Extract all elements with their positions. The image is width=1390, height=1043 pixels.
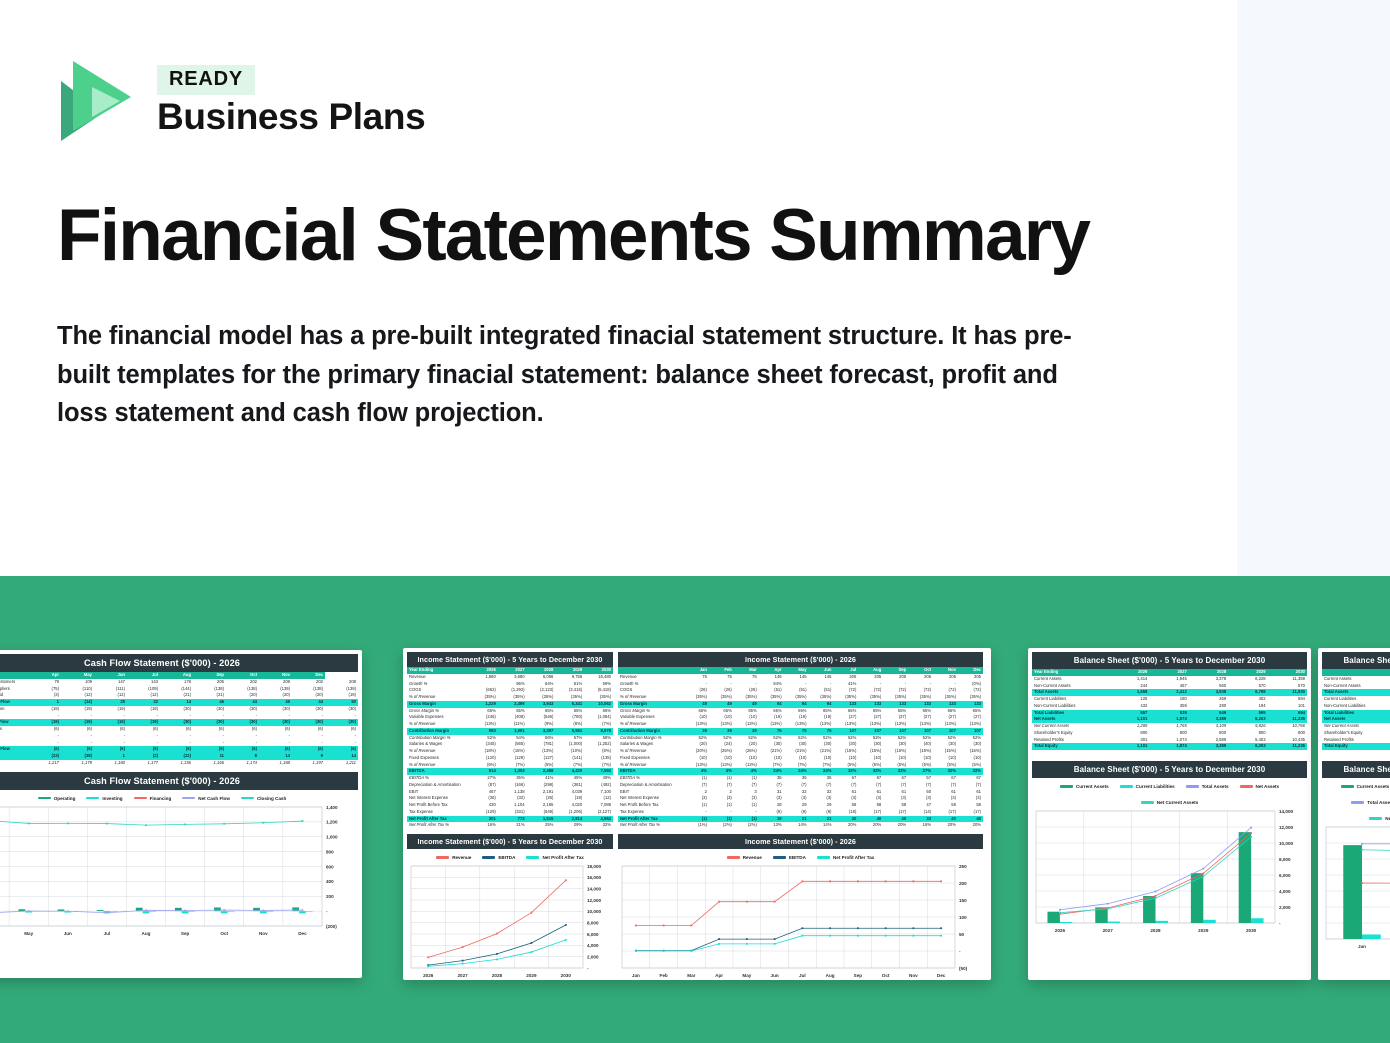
table-cell: 14%	[809, 822, 834, 829]
table-cell: 14	[325, 753, 358, 760]
table-cell: 52%	[734, 735, 759, 742]
table-cell: (7)	[759, 782, 784, 789]
table-cell: (30)	[759, 741, 784, 748]
table-cell: (6)	[61, 726, 94, 733]
table-row: Depreciation & Amortisation(87)(166)(298…	[407, 782, 613, 789]
svg-text:100: 100	[959, 915, 967, 920]
table-row: EBITDA4%4%4%24%24%24%32%32%32%27%32%32%	[618, 768, 983, 775]
table-cell: 3,109	[1189, 723, 1228, 730]
table-cell: (72)	[858, 687, 883, 694]
table-cell: 75	[759, 728, 784, 735]
table-cell: 58	[858, 802, 883, 809]
column-header: Jul	[127, 672, 160, 679]
table-cell: (7%)	[584, 721, 613, 728]
svg-text:Aug: Aug	[826, 973, 835, 978]
row-label: Total Equity	[1032, 743, 1110, 750]
table-cell: 59%	[584, 681, 613, 688]
table-row: Capital Expenditure(19)(19)(19)(19)(30)(…	[0, 706, 358, 713]
table-cell: 800	[1228, 730, 1267, 737]
table-cell: -	[28, 733, 61, 740]
svg-text:Jan: Jan	[1358, 944, 1366, 949]
table-cell: -	[127, 713, 160, 720]
svg-text:8,000: 8,000	[587, 920, 599, 925]
table-cell: (139)	[325, 686, 358, 693]
table-cell: 94	[784, 701, 809, 708]
table-cell: 402	[1228, 696, 1267, 703]
table-cell: 430	[469, 802, 498, 809]
svg-text:2,000: 2,000	[1279, 905, 1291, 910]
table-cell: 65%	[584, 708, 613, 715]
table-cell: (5%)	[858, 762, 883, 769]
table-row: Total Assets1,6582,4123,9386,79811,930	[1032, 689, 1307, 696]
table-cell: (10)	[883, 755, 908, 762]
table-cell: (1,206)	[555, 809, 584, 816]
row-label: Gross Margin %	[618, 708, 684, 715]
table-cell: 101	[1268, 703, 1307, 710]
table-row: Net Interest Expense(3)(3)(3)(3)(3)(3)(3…	[618, 795, 983, 802]
row-label: Net Current Assets	[1032, 723, 1110, 730]
table-cell: -	[160, 733, 193, 740]
table-cell: 205	[883, 674, 908, 681]
table-cell: 75	[709, 674, 734, 681]
table-cell: 19	[759, 816, 784, 823]
table-cell: 41%	[527, 775, 556, 782]
table-cell: 20%	[933, 822, 958, 829]
table-cell: (35%)	[759, 694, 784, 701]
table-cell: 1,197	[292, 760, 325, 767]
table-cell: 75	[684, 674, 709, 681]
row-label: Shareholder's Equity	[1032, 730, 1110, 737]
table-cell: 16%	[908, 822, 933, 829]
column-header: Nov	[933, 667, 958, 674]
balance-month-plot-area: JanFeb	[1324, 823, 1390, 951]
table-cell: (1)	[709, 816, 734, 823]
legend-label: Investing	[102, 796, 122, 801]
svg-text:150: 150	[959, 898, 967, 903]
table-row: Revenue757575145145145205205205205205205	[618, 674, 983, 681]
svg-text:4,000: 4,000	[587, 943, 599, 948]
table-cell: 1,174	[226, 760, 259, 767]
table-cell: 800	[1110, 730, 1149, 737]
legend-label: Closing Cash	[257, 796, 286, 801]
table-cell: (19)	[94, 719, 127, 726]
table-cell: 58	[958, 802, 983, 809]
svg-text:14,000: 14,000	[587, 886, 601, 891]
table-cell: (13%)	[684, 762, 709, 769]
row-label: Gross Margin	[407, 701, 469, 708]
table-row: % of Revenue(18%)(15%)(13%)(10%)(8%)	[407, 748, 613, 755]
table-cell: (35%)	[858, 694, 883, 701]
legend-item: Net Profit After Tax	[526, 855, 583, 860]
table-cell: 244	[1110, 683, 1149, 690]
row-label: Shareholder's Equity	[1322, 730, 1384, 737]
table-cell: 65%	[883, 708, 908, 715]
table-cell: 52%	[833, 735, 858, 742]
table-cell: (27)	[858, 714, 883, 721]
table-cell: (14)	[908, 809, 933, 816]
svg-text:Nov: Nov	[259, 931, 268, 936]
column-header: Apr	[759, 667, 784, 674]
svg-text:(200): (200)	[326, 923, 337, 928]
table-cell: (30)	[193, 719, 226, 726]
table-cell: (13%)	[908, 721, 933, 728]
row-label: % of Revenue	[618, 694, 684, 701]
table-row: EBITDA %(1)(1)(1)353535676767576767	[618, 775, 983, 782]
table-cell: -	[325, 713, 358, 720]
row-label: Net Profit After Tax %	[407, 822, 469, 829]
table-cell: (35%)	[958, 694, 983, 701]
column-header: 2028	[527, 667, 556, 674]
table-cell: -	[858, 681, 883, 688]
column-header: Jan	[684, 667, 709, 674]
row-label: Non-Current Liabilities	[1032, 703, 1110, 710]
table-cell: (10)	[784, 755, 809, 762]
table-row: Total Equity1,1011,8743,3896,20311,235	[1032, 743, 1307, 750]
table-cell: (138)	[193, 686, 226, 693]
table-cell: (1)	[709, 775, 734, 782]
table-cell: (381)	[555, 782, 584, 789]
row-label: Net Profit Before Tax	[618, 802, 684, 809]
table-cell: (30)	[160, 706, 193, 713]
row-label: Net Profit After Tax %	[618, 822, 684, 829]
table-cell: 1,880	[469, 674, 498, 681]
table-cell: 35	[809, 775, 834, 782]
table-cell: (246)	[469, 714, 498, 721]
table-cell: (19)	[94, 706, 127, 713]
table-cell: -	[61, 733, 94, 740]
table-cell: 1,101	[1110, 716, 1149, 723]
table-cell: 560	[1384, 710, 1390, 717]
table-cell: (1%)	[684, 822, 709, 829]
table-cell: (10)	[759, 755, 784, 762]
table-cell: 39	[734, 728, 759, 735]
table-cell: 58	[883, 802, 908, 809]
table-cell: (7)	[858, 782, 883, 789]
table-cell: 133	[833, 701, 858, 708]
table-cell: 10,062	[584, 701, 613, 708]
table-cell: (1,000)	[555, 741, 584, 748]
svg-text:2,000: 2,000	[587, 954, 599, 959]
svg-text:12,000: 12,000	[587, 898, 601, 903]
table-cell: (24)	[709, 741, 734, 748]
table-cell: 39	[709, 728, 734, 735]
row-label: Fixed Expenses	[618, 755, 684, 762]
table-cell: 20%	[833, 822, 858, 829]
table-cell: 107	[833, 728, 858, 735]
table-cell: 67	[833, 775, 858, 782]
table-cell: 32%	[833, 768, 858, 775]
table-cell: 107	[858, 728, 883, 735]
legend-label: Current Assets	[1076, 784, 1109, 789]
row-label: % of Revenue	[407, 694, 469, 701]
table-cell: 9	[292, 753, 325, 760]
table-cell: (6)	[28, 726, 61, 733]
table-cell: 1,156	[160, 760, 193, 767]
table-cell: 11	[193, 753, 226, 760]
table-cell: (30)	[858, 741, 883, 748]
table-row: Salaries & Wages(20)(24)(20)(30)(30)(30)…	[618, 741, 983, 748]
row-label: Current Assets	[1322, 676, 1384, 683]
table-cell: 33	[908, 816, 933, 823]
svg-text:2028: 2028	[492, 973, 503, 978]
legend-item: Total Assets	[1351, 800, 1390, 805]
table-cell: 1,211	[325, 760, 358, 767]
table-cell: 61	[883, 789, 908, 796]
table-cell: 52%	[908, 735, 933, 742]
table-cell: (5%)	[527, 762, 556, 769]
cashflow-chart-title: Cash Flow Statement ($'000) - 2026	[0, 772, 358, 790]
table-cell: (87)	[469, 782, 498, 789]
legend-swatch	[1120, 785, 1133, 788]
income-year-plot-area: 18,00016,00014,00012,00010,0008,0006,000…	[409, 862, 611, 980]
table-cell: (5%)	[958, 762, 983, 769]
table-cell: (3)	[784, 795, 809, 802]
table-cell: (7%)	[498, 762, 527, 769]
table-cell: (13%)	[469, 721, 498, 728]
table-cell: (138)	[226, 686, 259, 693]
table-cell: 983	[469, 728, 498, 735]
table-cell: (15%)	[498, 748, 527, 755]
table-cell: (9)	[759, 809, 784, 816]
balance-screenshot-card[interactable]: Balance Sheet ($'000) - 5 Years to Decem…	[1028, 648, 1311, 980]
table-cell: (72)	[933, 687, 958, 694]
table-cell: (13%)	[883, 721, 908, 728]
svg-text:Feb: Feb	[660, 973, 668, 978]
table-cell: 2,589	[1189, 737, 1228, 744]
table-cell: (30)	[933, 741, 958, 748]
row-label: Receipts from Customers	[0, 679, 28, 686]
table-cell: (20)	[684, 741, 709, 748]
legend-swatch	[727, 856, 740, 859]
legend-item: EBITDA	[482, 855, 515, 860]
table-cell: (9)	[784, 809, 809, 816]
table-row: Equity Raised----------	[0, 733, 358, 740]
svg-text:1,400: 1,400	[326, 804, 338, 809]
table-cell: (8%)	[584, 748, 613, 755]
table-cell: -	[292, 740, 325, 747]
table-row: Depreciation & Amortisation(7)(7)(7)(7)(…	[618, 782, 983, 789]
table-cell: (10)	[684, 755, 709, 762]
table-cell: 560	[1189, 683, 1228, 690]
table-cell: -	[61, 713, 94, 720]
table-cell: 52%	[933, 735, 958, 742]
table-cell: -	[259, 713, 292, 720]
table-cell: 25	[94, 699, 127, 706]
table-cell: (7)	[833, 782, 858, 789]
table-cell: 3,389	[1189, 716, 1228, 723]
row-label: Current Assets	[1032, 676, 1110, 683]
table-cell: 65%	[759, 708, 784, 715]
table-cell: 1,991	[498, 728, 527, 735]
table-cell: 65%	[858, 708, 883, 715]
table-cell: -	[226, 713, 259, 720]
table-cell: (3)	[933, 795, 958, 802]
table-row: Net Profit After Tax %16%21%25%29%32%	[407, 822, 613, 829]
table-cell: 4,420	[555, 768, 584, 775]
table-cell: (14)	[61, 699, 94, 706]
income-month-table-body: Revenue757575145145145205205205205205205…	[618, 674, 983, 829]
table-cell: 9,756	[555, 674, 584, 681]
table-cell: -	[127, 740, 160, 747]
table-row: Retained Profits(1)(2)	[1322, 737, 1390, 744]
table-cell: (3)	[759, 795, 784, 802]
table-cell: 205	[933, 674, 958, 681]
svg-text:Nov: Nov	[909, 973, 918, 978]
table-row: Variable Expenses(10)(10)(10)(19)(19)(19…	[618, 714, 983, 721]
column-header: Year Ending	[407, 667, 469, 674]
table-cell: 495	[1384, 703, 1390, 710]
table-cell: (51)	[784, 687, 809, 694]
legend-item: Net Current Assets	[1369, 816, 1390, 821]
table-cell: 2	[684, 789, 709, 796]
table-row: Non-Current Assets1836	[1322, 683, 1390, 690]
table-row: EBITDA5141,3042,4884,4207,592	[407, 768, 613, 775]
income-screenshot-card[interactable]: Income Statement ($'000) - 5 Years to De…	[403, 648, 991, 980]
row-label: Variable Expenses	[407, 714, 469, 721]
legend-swatch	[241, 797, 254, 800]
table-cell: 40	[883, 816, 908, 823]
table-cell: (1)	[684, 816, 709, 823]
table-cell: (6)	[94, 726, 127, 733]
table-cell: (129)	[469, 809, 498, 816]
table-cell: (7)	[784, 782, 809, 789]
table-cell: 14	[259, 753, 292, 760]
table-cell: 58	[933, 802, 958, 809]
column-header	[618, 667, 684, 674]
row-label: Net Profit After Tax	[618, 816, 684, 823]
legend-swatch	[86, 797, 99, 800]
column-header: Dec	[292, 672, 325, 679]
table-cell: (12)	[127, 692, 160, 699]
table-cell: (10)	[734, 755, 759, 762]
table-cell: (35%)	[684, 694, 709, 701]
legend-item: Current Assets	[1060, 784, 1109, 789]
table-cell: 1,104	[498, 802, 527, 809]
table-cell: (72)	[833, 687, 858, 694]
table-cell: 557	[1110, 710, 1149, 717]
table-cell: 269	[1189, 696, 1228, 703]
row-label: Non-Current Assets	[1322, 683, 1384, 690]
legend-swatch	[38, 797, 51, 800]
table-cell: 2,488	[527, 768, 556, 775]
table-cell: -	[883, 681, 908, 688]
table-cell: 4%	[734, 768, 759, 775]
table-cell: (25%)	[709, 748, 734, 755]
table-header-row: Year Ending20262027202820292030	[1032, 669, 1307, 676]
table-cell: 61	[958, 789, 983, 796]
column-header: Jan	[1384, 669, 1390, 676]
svg-text:-: -	[587, 966, 589, 971]
svg-text:(50): (50)	[959, 966, 968, 971]
balance-month-table-title: Balance Sheet ($'000) - 2026	[1322, 652, 1390, 669]
table-cell: 1,188	[259, 760, 292, 767]
svg-text:18,000: 18,000	[587, 864, 601, 869]
table-cell: 133	[908, 701, 933, 708]
table-cell: (12)	[584, 795, 613, 802]
table-cell: (35%)	[784, 694, 809, 701]
table-cell: 1,658	[1110, 689, 1149, 696]
row-label: Contribution Margin %	[618, 735, 684, 742]
cashflow-screenshot-card[interactable]: Cash Flow Statement ($'000) - 2026 AprMa…	[0, 650, 362, 978]
legend-swatch	[134, 797, 147, 800]
income-month-chart-title: Income Statement ($'000) - 2026	[618, 834, 983, 849]
table-cell: (17)	[858, 809, 883, 816]
table-cell: (27)	[958, 714, 983, 721]
table-row: Net Interest Expense(36)(32)(26)(19)(12)	[407, 795, 613, 802]
row-label: Tax Expense	[618, 809, 684, 816]
row-label: Net Assets	[1322, 716, 1384, 723]
table-cell: 133	[958, 701, 983, 708]
table-cell: 1,341	[1384, 676, 1390, 683]
table-cell: (35%)	[908, 694, 933, 701]
table-cell: 1,138	[498, 789, 527, 796]
table-cell: (30)	[292, 719, 325, 726]
table-cell: 24%	[784, 768, 809, 775]
table-cell: 65%	[809, 708, 834, 715]
table-cell: (3)	[833, 795, 858, 802]
legend-swatch	[182, 797, 195, 800]
table-cell: (5%)	[883, 762, 908, 769]
table-cell: -	[28, 713, 61, 720]
table-cell: 49	[684, 701, 709, 708]
svg-text:2028: 2028	[1150, 928, 1161, 933]
income-year-chart-legend: RevenueEBITDANet Profit After Tax	[409, 852, 611, 862]
table-cell: 75	[809, 728, 834, 735]
table-cell: (7)	[709, 782, 734, 789]
table-cell: (6)	[226, 746, 259, 753]
svg-text:-: -	[326, 908, 328, 913]
table-cell: 11,235	[1268, 743, 1307, 750]
hero-description: The financial model has a pre-built inte…	[57, 317, 1087, 433]
table-row: Net Profit Before Tax(1)(1)(1)2829295858…	[618, 802, 983, 809]
table-cell: (30)	[809, 741, 834, 748]
table-cell: (5,418)	[584, 687, 613, 694]
table-cell: 61	[833, 789, 858, 796]
table-cell: 3,389	[1189, 743, 1228, 750]
balance-month-chart-legend: Current AssetsCurrent LiabilitiesTotal A…	[1324, 781, 1390, 823]
table-cell: 29	[784, 802, 809, 809]
table-cell: 280	[1189, 703, 1228, 710]
legend-swatch	[436, 856, 449, 859]
table-cell: 4%	[709, 768, 734, 775]
table-row: Tax Expense---(9)(9)(9)(18)(17)(17)(14)(…	[618, 809, 983, 816]
row-label: Net Interest Expense	[407, 795, 469, 802]
balance-monthly-screenshot-card[interactable]: Balance Sheet ($'000) - 2026 JanFeb Curr…	[1318, 648, 1390, 980]
table-cell: (3)	[684, 795, 709, 802]
table-cell: (13%)	[833, 721, 858, 728]
table-cell: (109)	[127, 686, 160, 693]
table-cell: (30)	[193, 706, 226, 713]
row-label: Depreciation & Amortisation	[618, 782, 684, 789]
legend-label: Net Current Assets	[1157, 800, 1198, 805]
table-cell: -	[94, 713, 127, 720]
table-cell: 1,217	[28, 760, 61, 767]
table-cell: 514	[469, 768, 498, 775]
table-cell: (3)	[734, 795, 759, 802]
row-label: COGS	[618, 687, 684, 694]
brand-name: Business Plans	[157, 98, 425, 137]
table-cell: 65%	[469, 708, 498, 715]
row-label: % of Revenue	[618, 721, 684, 728]
row-label: Interest & Tax Paid	[0, 692, 28, 699]
legend-label: Total Assets	[1202, 784, 1229, 789]
row-label: Revenue	[407, 674, 469, 681]
row-label: COGS	[407, 687, 469, 694]
svg-text:Aug: Aug	[142, 931, 151, 936]
table-cell: (780)	[555, 714, 584, 721]
table-cell: -	[784, 681, 809, 688]
table-cell: (19)	[759, 714, 784, 721]
